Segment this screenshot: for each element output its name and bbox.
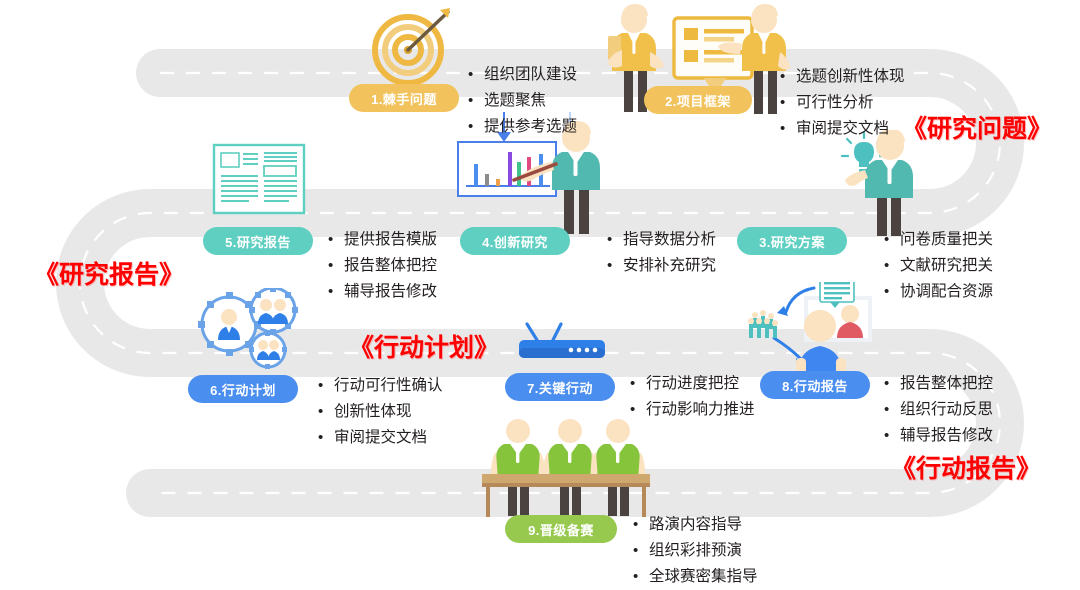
roadmap-diagram: 《研究问题》 《研究报告》 《行动计划》 《行动报告》 1.棘手问题 2.项目框… xyxy=(0,0,1080,586)
bullet-dot: • xyxy=(630,397,646,423)
list-item: •组织团队建设 xyxy=(468,62,577,88)
idea-person-icon xyxy=(820,130,930,238)
step-pill-4[interactable]: 4.创新研究 xyxy=(460,227,570,255)
bullet-dot: • xyxy=(884,371,900,397)
judge-2 xyxy=(543,419,597,516)
step-pill-7[interactable]: 7.关键行动 xyxy=(505,373,615,401)
list-item: •提供报告模版 xyxy=(328,227,437,253)
bullet-dot: • xyxy=(328,279,344,305)
bullet-dot: • xyxy=(328,227,344,253)
bullet-dot: • xyxy=(468,114,484,140)
judge-1 xyxy=(491,419,545,516)
bullet-dot: • xyxy=(884,423,900,449)
bullet-dot: • xyxy=(318,399,334,425)
list-item: •辅导报告修改 xyxy=(884,423,993,449)
bullet-dot: • xyxy=(607,227,623,253)
step-bullets-9: •路演内容指导 •组织彩排预演 •全球赛密集指导 xyxy=(633,512,758,590)
bullet-dot: • xyxy=(884,253,900,279)
list-item: •报告整体把控 xyxy=(328,253,437,279)
list-item: •审阅提交文档 xyxy=(318,425,443,451)
step-pill-3[interactable]: 3.研究方案 xyxy=(737,227,847,255)
section-title-action-report: 《行动报告》 xyxy=(891,449,1041,485)
step-pill-1[interactable]: 1.棘手问题 xyxy=(349,84,459,112)
step-bullets-6: •行动可行性确认 •创新性体现 •审阅提交文档 xyxy=(318,373,443,451)
list-item: •路演内容指导 xyxy=(633,512,758,538)
list-item: •选题聚焦 xyxy=(468,88,577,114)
bullet-dot: • xyxy=(468,62,484,88)
bullet-dot: • xyxy=(633,512,649,538)
bullet-dot: • xyxy=(468,88,484,114)
step-bullets-3: •问卷质量把关 •文献研究把关 •协调配合资源 xyxy=(884,227,993,305)
step-pill-9[interactable]: 9.晋级备赛 xyxy=(505,515,617,543)
bullet-dot: • xyxy=(780,90,796,116)
bullet-dot: • xyxy=(780,64,796,90)
step-pill-5[interactable]: 5.研究报告 xyxy=(203,227,313,255)
bullet-dot: • xyxy=(318,425,334,451)
list-item: •创新性体现 xyxy=(318,399,443,425)
list-item: •协调配合资源 xyxy=(884,279,993,305)
video-conference-icon xyxy=(744,282,876,374)
list-item: •行动可行性确认 xyxy=(318,373,443,399)
step-bullets-5: •提供报告模版 •报告整体把控 •辅导报告修改 xyxy=(328,227,437,305)
audience-group xyxy=(748,310,778,338)
list-item: •选题创新性体现 xyxy=(780,64,905,90)
panel-judges-icon xyxy=(478,412,654,520)
list-item: •组织行动反思 xyxy=(884,397,993,423)
section-title-action-plan: 《行动计划》 xyxy=(349,328,499,364)
step-bullets-8: •报告整体把控 •组织行动反思 •辅导报告修改 xyxy=(884,371,993,449)
bullet-dot: • xyxy=(633,564,649,590)
judge-3 xyxy=(591,419,645,516)
bullet-dot: • xyxy=(780,116,796,142)
step-pill-6[interactable]: 6.行动计划 xyxy=(188,375,298,403)
bullet-dot: • xyxy=(633,538,649,564)
list-item: •行动进度把控 xyxy=(630,371,755,397)
bullet-dot: • xyxy=(884,227,900,253)
bullet-dot: • xyxy=(884,397,900,423)
list-item: •辅导报告修改 xyxy=(328,279,437,305)
list-item: •全球赛密集指导 xyxy=(633,564,758,590)
list-item: •安排补充研究 xyxy=(607,253,716,279)
list-item: •组织彩排预演 xyxy=(633,538,758,564)
step-pill-2[interactable]: 2.项目框架 xyxy=(644,86,752,114)
section-title-research-question: 《研究问题》 xyxy=(902,109,1052,145)
bullet-dot: • xyxy=(884,279,900,305)
step-bullets-7: •行动进度把控 •行动影响力推进 xyxy=(630,371,755,423)
monitor xyxy=(674,18,752,88)
list-item: •可行性分析 xyxy=(780,90,905,116)
step-bullets-4: •指导数据分析 •安排补充研究 xyxy=(607,227,716,279)
list-item: •提供参考选题 xyxy=(468,114,577,140)
bullet-dot: • xyxy=(607,253,623,279)
target-arrow-icon xyxy=(368,6,452,90)
report-document-icon xyxy=(212,143,306,215)
list-item: •问卷质量把关 xyxy=(884,227,993,253)
bullet-dot: • xyxy=(630,371,646,397)
step-pill-8[interactable]: 8.行动报告 xyxy=(760,371,870,399)
list-item: •审阅提交文档 xyxy=(780,116,905,142)
list-item: •行动影响力推进 xyxy=(630,397,755,423)
router-device-icon xyxy=(515,322,609,368)
step-bullets-2: •选题创新性体现 •可行性分析 •审阅提交文档 xyxy=(780,64,905,142)
list-item: •报告整体把控 xyxy=(884,371,993,397)
bullet-dot: • xyxy=(328,253,344,279)
list-item: •指导数据分析 xyxy=(607,227,716,253)
list-item: •文献研究把关 xyxy=(884,253,993,279)
bullet-dot: • xyxy=(318,373,334,399)
step-bullets-1: •组织团队建设 •选题聚焦 •提供参考选题 xyxy=(468,62,577,140)
gears-people-icon xyxy=(196,288,308,370)
section-title-research-report: 《研究报告》 xyxy=(34,255,184,291)
